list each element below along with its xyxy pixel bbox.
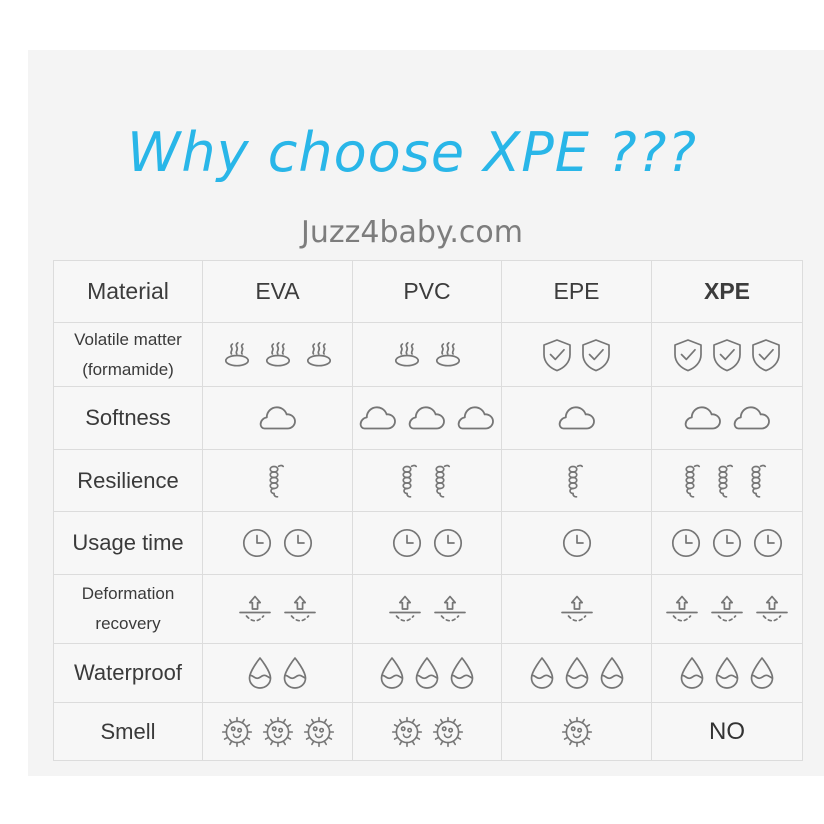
rating-icon-group	[502, 512, 651, 574]
germ-icon	[220, 715, 254, 749]
steam-icon	[390, 338, 424, 372]
cell-usage_time-epe	[502, 512, 652, 575]
rating-icon-group	[652, 575, 802, 643]
cell-softness-pvc	[353, 387, 502, 450]
rating-icon-group	[203, 644, 352, 702]
rating-icon-group	[502, 575, 651, 643]
water-drop-icon	[528, 655, 556, 691]
water-drop-icon	[378, 655, 406, 691]
page-title: Why choose XPE ???	[0, 126, 824, 180]
rating-icon-group	[353, 323, 501, 386]
rating-icon-group	[652, 323, 802, 386]
rating-icon-group	[203, 323, 352, 386]
row-label-line1: Volatile matter	[54, 325, 202, 355]
table-row: Resilience	[54, 450, 803, 512]
rating-icon-group	[652, 644, 802, 702]
cell-deformation_recovery-eva	[203, 575, 353, 644]
spring-icon	[398, 461, 424, 501]
rating-icon-group	[203, 575, 352, 643]
material-comparison-table-wrapper: Material EVA PVC EPE XPE Volatile matter…	[53, 260, 802, 752]
rebound-arrow-icon	[386, 592, 424, 626]
row-label-volatile: Volatile matter(formamide)	[54, 323, 203, 387]
row-label-line1: Usage time	[54, 530, 202, 555]
cell-softness-xpe	[652, 387, 803, 450]
cell-volatile-pvc	[353, 323, 502, 387]
cloud-icon	[357, 404, 399, 432]
column-header-xpe: XPE	[652, 261, 803, 323]
row-label-resilience: Resilience	[54, 450, 203, 512]
table-head: Material EVA PVC EPE XPE	[54, 261, 803, 323]
cell-smell-epe	[502, 703, 652, 761]
shield-check-icon	[580, 337, 612, 373]
cloud-icon	[682, 404, 724, 432]
rating-icon-group	[353, 644, 501, 702]
water-drop-icon	[598, 655, 626, 691]
brand-watermark: Juzz4baby.com	[0, 218, 824, 248]
steam-icon	[431, 338, 465, 372]
germ-icon	[261, 715, 295, 749]
rebound-arrow-icon	[281, 592, 319, 626]
rating-icon-group	[502, 644, 651, 702]
rating-icon-group	[652, 387, 802, 449]
water-drop-icon	[678, 655, 706, 691]
row-label-smell: Smell	[54, 703, 203, 761]
row-label-line2: (formamide)	[54, 355, 202, 385]
rating-icon-group	[203, 450, 352, 511]
shield-check-icon	[672, 337, 704, 373]
table-header-row: Material EVA PVC EPE XPE	[54, 261, 803, 323]
shield-check-icon	[711, 337, 743, 373]
rating-icon-group	[203, 703, 352, 760]
table-row: Usage time	[54, 512, 803, 575]
cell-volatile-eva	[203, 323, 353, 387]
clock-icon	[710, 526, 744, 560]
rating-icon-group	[502, 450, 651, 511]
rating-icon-group	[353, 575, 501, 643]
rating-icon-group	[203, 512, 352, 574]
spring-icon	[431, 461, 457, 501]
column-header-epe: EPE	[502, 261, 652, 323]
water-drop-icon	[246, 655, 274, 691]
rating-icon-group	[652, 512, 802, 574]
steam-icon	[261, 338, 295, 372]
cloud-icon	[257, 404, 299, 432]
cell-smell-xpe: NO	[652, 703, 803, 761]
rating-icon-group	[353, 703, 501, 760]
cell-usage_time-pvc	[353, 512, 502, 575]
column-header-pvc: PVC	[353, 261, 502, 323]
steam-icon	[302, 338, 336, 372]
row-label-line2: recovery	[54, 609, 202, 639]
germ-icon	[431, 715, 465, 749]
table-row: Softness	[54, 387, 803, 450]
table-row: Volatile matter(formamide)	[54, 323, 803, 387]
rebound-arrow-icon	[753, 592, 791, 626]
rebound-arrow-icon	[708, 592, 746, 626]
cell-smell-eva	[203, 703, 353, 761]
clock-icon	[281, 526, 315, 560]
spring-icon	[714, 461, 740, 501]
cell-waterproof-pvc	[353, 644, 502, 703]
cloud-icon	[731, 404, 773, 432]
row-label-softness: Softness	[54, 387, 203, 450]
rebound-arrow-icon	[663, 592, 701, 626]
clock-icon	[431, 526, 465, 560]
rating-icon-group	[353, 387, 501, 449]
water-drop-icon	[413, 655, 441, 691]
cell-softness-eva	[203, 387, 353, 450]
spring-icon	[747, 461, 773, 501]
table-row: Waterproof	[54, 644, 803, 703]
germ-icon	[302, 715, 336, 749]
table-row: Smell	[54, 703, 803, 761]
row-label-line1: Softness	[54, 405, 202, 430]
water-drop-icon	[713, 655, 741, 691]
column-header-material: Material	[54, 261, 203, 323]
rating-icon-group	[203, 387, 352, 449]
row-label-line1: Waterproof	[54, 660, 202, 685]
shield-check-icon	[541, 337, 573, 373]
column-header-eva: EVA	[203, 261, 353, 323]
cell-resilience-epe	[502, 450, 652, 512]
cell-resilience-pvc	[353, 450, 502, 512]
rating-icon-group	[502, 387, 651, 449]
clock-icon	[390, 526, 424, 560]
clock-icon	[560, 526, 594, 560]
steam-icon	[220, 338, 254, 372]
cell-deformation_recovery-epe	[502, 575, 652, 644]
clock-icon	[751, 526, 785, 560]
cell-resilience-xpe	[652, 450, 803, 512]
spring-icon	[564, 461, 590, 501]
clock-icon	[240, 526, 274, 560]
row-label-line1: Resilience	[54, 468, 202, 493]
rating-icon-group	[502, 703, 651, 760]
cell-volatile-xpe	[652, 323, 803, 387]
cell-volatile-epe	[502, 323, 652, 387]
row-label-line1: Smell	[54, 719, 202, 744]
germ-icon	[560, 715, 594, 749]
cell-waterproof-xpe	[652, 644, 803, 703]
cell-smell-pvc	[353, 703, 502, 761]
cell-waterproof-eva	[203, 644, 353, 703]
table-row: Deformationrecovery	[54, 575, 803, 644]
cell-deformation_recovery-pvc	[353, 575, 502, 644]
rating-icon-group	[353, 450, 501, 511]
cloud-icon	[455, 404, 497, 432]
rebound-arrow-icon	[236, 592, 274, 626]
cell-resilience-eva	[203, 450, 353, 512]
cloud-icon	[556, 404, 598, 432]
shield-check-icon	[750, 337, 782, 373]
cell-waterproof-epe	[502, 644, 652, 703]
cell-text-value: NO	[709, 718, 745, 745]
water-drop-icon	[563, 655, 591, 691]
row-label-usage_time: Usage time	[54, 512, 203, 575]
water-drop-icon	[281, 655, 309, 691]
water-drop-icon	[748, 655, 776, 691]
comparison-infographic: Why choose XPE ??? Juzz4baby.com Materia…	[0, 0, 824, 824]
rebound-arrow-icon	[431, 592, 469, 626]
clock-icon	[669, 526, 703, 560]
spring-icon	[265, 461, 291, 501]
spring-icon	[681, 461, 707, 501]
row-label-deformation_recovery: Deformationrecovery	[54, 575, 203, 644]
rebound-arrow-icon	[558, 592, 596, 626]
material-comparison-table: Material EVA PVC EPE XPE Volatile matter…	[53, 260, 803, 761]
row-label-line1: Deformation	[54, 579, 202, 609]
cell-usage_time-eva	[203, 512, 353, 575]
water-drop-icon	[448, 655, 476, 691]
cell-softness-epe	[502, 387, 652, 450]
rating-icon-group	[652, 450, 802, 511]
table-body: Volatile matter(formamide)	[54, 323, 803, 761]
cell-deformation_recovery-xpe	[652, 575, 803, 644]
rating-icon-group	[502, 323, 651, 386]
rating-icon-group	[353, 512, 501, 574]
cell-usage_time-xpe	[652, 512, 803, 575]
germ-icon	[390, 715, 424, 749]
row-label-waterproof: Waterproof	[54, 644, 203, 703]
cloud-icon	[406, 404, 448, 432]
